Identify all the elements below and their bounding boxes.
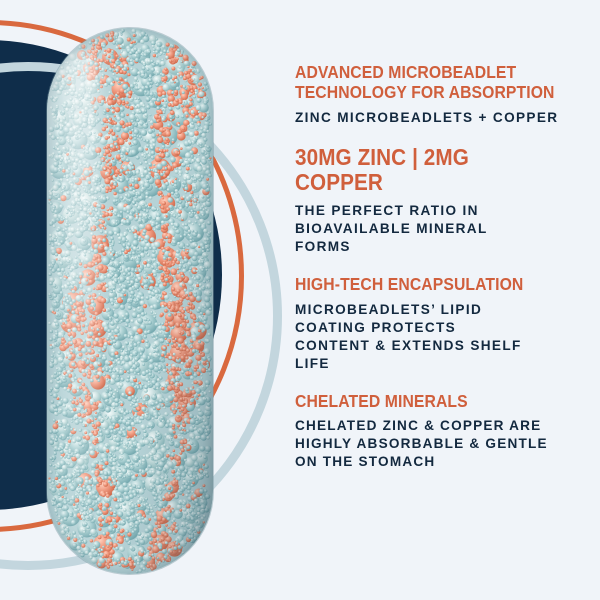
benefit-heading-2: 30MG ZINC | 2MG COPPER (295, 145, 558, 197)
benefit-heading-1: ADVANCED MICROBEADLET TECHNOLOGY FOR ABS… (295, 62, 558, 103)
infographic-canvas: ADVANCED MICROBEADLET TECHNOLOGY FOR ABS… (0, 0, 600, 600)
benefit-body-1: ZINC MICROBEADLETS + COPPER (295, 109, 587, 127)
benefit-body-3: MICROBEADLETS’ LIPID COATING PROTECTS CO… (295, 301, 587, 373)
benefit-block-2: 30MG ZINC | 2MG COPPER THE PERFECT RATIO… (295, 145, 587, 257)
benefit-heading-4: CHELATED MINERALS (295, 391, 558, 411)
benefit-block-4: CHELATED MINERALS CHELATED ZINC & COPPER… (295, 391, 587, 472)
benefit-body-2: THE PERFECT RATIO IN BIOAVAILABLE MINERA… (295, 202, 587, 256)
benefit-block-1: ADVANCED MICROBEADLET TECHNOLOGY FOR ABS… (295, 62, 587, 127)
benefits-panel: ADVANCED MICROBEADLET TECHNOLOGY FOR ABS… (295, 62, 587, 474)
microbeadlets-fill (47, 28, 213, 574)
capsule-shell (47, 28, 213, 574)
capsule-image (47, 28, 213, 574)
benefit-heading-3: HIGH-TECH ENCAPSULATION (295, 274, 558, 294)
benefit-block-3: HIGH-TECH ENCAPSULATION MICROBEADLETS’ L… (295, 274, 587, 373)
benefit-body-4: CHELATED ZINC & COPPER ARE HIGHLY ABSORB… (295, 417, 587, 471)
